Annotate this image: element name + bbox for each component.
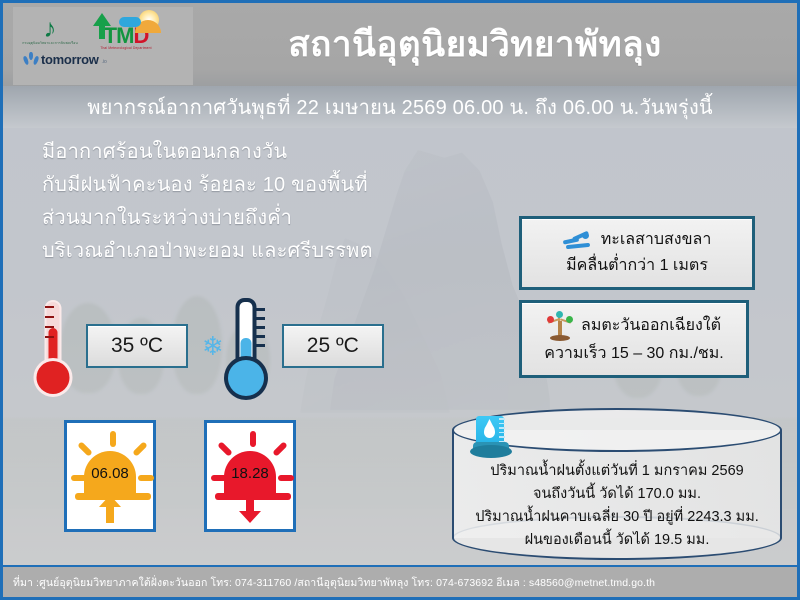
rainfall-line-3: ปริมาณน้ำฝนคาบเฉลี่ย 30 ปี อยู่ที่ 2243.… [452,506,782,529]
sunset-arrow-shaft [246,495,254,512]
forecast-period-text: พยากรณ์อากาศวันพุธที่ 22 เมษายน 2569 06.… [87,91,713,123]
rain-gauge-icon [470,414,512,462]
poster-header: ♪ กรมอุตุนิยมวิทยาและการบินพลเรือน TMD T… [3,3,797,86]
rainfall-line-1: ปริมาณน้ำฝนตั้งแต่วันที่ 1 มกราคม 2569 [452,460,782,483]
sunset-down-arrow-icon [239,495,261,523]
sea-line-2: มีคลื่นต่ำกว่า 1 เมตร [536,253,738,279]
logo-row-top: ♪ กรมอุตุนิยมวิทยาและการบินพลเรือน TMD T… [21,10,193,50]
agency-logo-caption: กรมอุตุนิยมวิทยาและการบินพลเรือน [21,41,79,45]
wind-line-2: ความเร็ว 15 – 30 กม./ชม. [536,341,732,367]
rain-gauge-droplet-icon [484,424,495,438]
max-thermometer-bulb [37,361,70,394]
sunset-time: 18.28 [231,465,269,482]
temperature-row: 35 ºC ❄ 25 ºC [36,296,384,396]
sea-line-1-row: ทะเลสาบสงขลา [536,227,738,253]
weather-poster: ♪ กรมอุตุนิยมวิทยาและการบินพลเรือน TMD T… [0,0,800,600]
forecast-line-4: บริเวณอำเภอป่าพะยอม และศรีบรรพต [42,235,512,268]
rainfall-panel: ปริมาณน้ำฝนตั้งแต่วันที่ 1 มกราคม 2569 จ… [452,408,782,560]
sunset-sun-disc: 18.28 [224,451,276,495]
anemometer-icon [547,311,573,341]
forecast-line-1: มีอากาศร้อนในตอนกลางวัน [42,136,512,169]
forecast-line-2: กับมีฝนฟ้าคะนอง ร้อยละ 10 ของพื้นที่ [42,169,512,202]
tomorrow-wordmark: tomorrow [41,52,99,67]
tmd-logo: TMD Thai Meteorological Department [89,10,163,50]
sunset-box: 18.28 [204,420,296,532]
wind-line-1-row: ลมตะวันออกเฉียงใต้ [536,311,732,341]
max-temperature-value: 35 ºC [86,324,188,368]
logo-group: ♪ กรมอุตุนิยมวิทยาและการบินพลเรือน TMD T… [13,7,193,85]
rainfall-text: ปริมาณน้ำฝนตั้งแต่วันที่ 1 มกราคม 2569 จ… [452,460,782,552]
sunrise-ray-upleft [77,441,93,457]
wind-box: ลมตะวันออกเฉียงใต้ ความเร็ว 15 – 30 กม./… [519,300,749,378]
rainfall-line-2: จนถึงวันนี้ วัดได้ 170.0 มม. [452,483,782,506]
sunset-arrow-head [239,511,261,523]
sunset-ray-top [250,431,256,447]
sunset-ray-upright [272,441,288,457]
min-thermometer-bulb [228,360,264,396]
agency-logo-mark: ♪ [44,15,57,41]
min-temperature-value: 25 ºC [282,324,384,368]
agency-logo: ♪ กรมอุตุนิยมวิทยาและการบินพลเรือน [21,15,79,45]
anemometer-cup-red [547,316,554,323]
sea-condition-box: ทะเลสาบสงขลา มีคลื่นต่ำกว่า 1 เมตร [519,216,755,290]
sunset-graphic: 18.28 [207,423,293,529]
forecast-text: มีอากาศร้อนในตอนกลางวัน กับมีฝนฟ้าคะนอง … [42,136,512,268]
sunrise-up-arrow-icon [99,495,121,523]
wave-icon [563,231,593,249]
tomorrow-icon [23,52,38,67]
rainfall-line-4: ฝนของเดือนนี้ วัดได้ 19.5 มม. [452,529,782,552]
sunrise-ray-top [110,431,116,447]
sunset-ray-right [278,475,294,481]
anemometer-cup-green [566,316,573,323]
tmd-logo-subtitle: Thai Meteorological Department [100,46,151,50]
tomorrow-tld: .io [102,59,107,65]
sunrise-ray-right [138,475,154,481]
tmd-arrow-stem [99,25,105,39]
sunrise-graphic: 06.08 [67,423,153,529]
rain-gauge-base [470,445,512,458]
sunrise-arrow-shaft [106,506,114,523]
min-thermometer-icon [226,296,266,396]
footer-source-text: ที่มา :ศูนย์อุตุนิยมวิทยาภาคใต้ฝั่งตะวัน… [3,574,655,591]
max-thermometer-icon [36,298,70,394]
sunrise-ray-upright [132,441,148,457]
max-thermometer-scale [45,306,54,354]
sunrise-box: 06.08 [64,420,156,532]
min-thermometer-scale [254,308,265,356]
poster-footer: ที่มา :ศูนย์อุตุนิยมวิทยาภาคใต้ฝั่งตะวัน… [3,565,797,597]
sunset-ray-upleft [217,441,233,457]
forecast-period-band: พยากรณ์อากาศวันพุธที่ 22 เมษายน 2569 06.… [3,86,797,128]
sunrise-sun-disc: 06.08 [84,451,136,495]
wind-line-1: ลมตะวันออกเฉียงใต้ [581,313,721,339]
sea-line-1: ทะเลสาบสงขลา [601,227,712,253]
anemometer-base [550,335,570,341]
snowflake-icon: ❄ [202,331,224,362]
sunrise-time: 06.08 [91,465,129,482]
forecast-line-3: ส่วนมากในระหว่างบ่ายถึงค่ำ [42,202,512,235]
tmd-cloud-icon [119,17,141,27]
tmd-logo-graphic [89,10,163,40]
tomorrow-logo: tomorrow .io [23,52,193,67]
anemometer-cup-teal [556,311,563,318]
